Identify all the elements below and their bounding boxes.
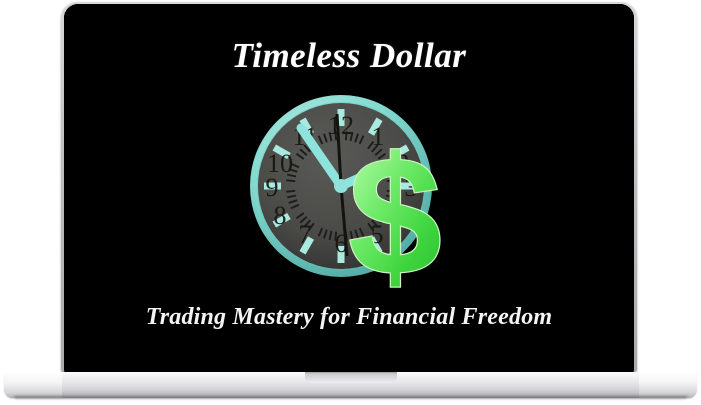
laptop-base-shadow (14, 396, 687, 400)
clock-center-cap (334, 179, 348, 193)
laptop-device: Timeless Dollar (0, 0, 701, 405)
screenshot-stage: Timeless Dollar (0, 0, 701, 405)
laptop-base-notch (305, 372, 397, 383)
laptop-base-left-edge (4, 372, 62, 398)
page-tagline: Trading Mastery for Financial Freedom (64, 304, 634, 331)
page-title: Timeless Dollar (64, 36, 634, 76)
dollar-sign-icon: $ $ (348, 122, 441, 301)
svg-text:8: 8 (274, 201, 287, 230)
presentation-slide: Timeless Dollar (64, 4, 634, 373)
clock-dollar-logo: 12 1 2 3 4 5 6 7 8 9 10 (249, 86, 464, 301)
svg-text:10: 10 (267, 149, 293, 178)
laptop-screen: Timeless Dollar (64, 4, 634, 373)
laptop-base-right-edge (639, 372, 697, 398)
svg-text:7: 7 (299, 220, 312, 249)
svg-text:$: $ (348, 122, 441, 301)
